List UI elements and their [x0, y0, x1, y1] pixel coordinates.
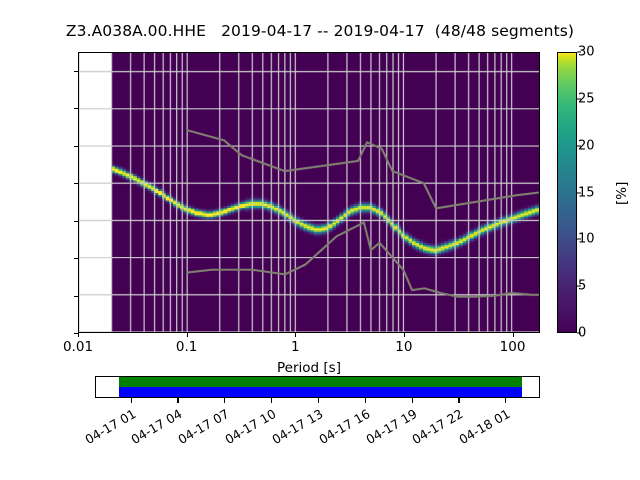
y-tick-mark: [74, 183, 78, 184]
y-tick-mark: [74, 258, 78, 259]
y-tick-mark: [74, 108, 78, 109]
timeline-tick-mark: [318, 398, 319, 403]
colorbar-tick-mark: [577, 98, 581, 99]
timeline-tick-mark: [177, 398, 178, 403]
y-tick-mark: [74, 221, 78, 222]
colorbar-tick-mark: [577, 192, 581, 193]
x-tick-label: 0.01: [63, 339, 93, 355]
timeline-tick-mark: [505, 398, 506, 403]
timeline-tick-mark: [412, 398, 413, 403]
colorbar-label: [%]: [614, 182, 630, 205]
x-tick-mark: [187, 333, 188, 337]
x-tick-label: 100: [500, 339, 526, 355]
timeline-axes[interactable]: [95, 376, 540, 398]
x-tick-label: 1: [291, 339, 300, 355]
ppsd-histogram-canvas: [79, 53, 539, 332]
colorbar-tick-mark: [577, 333, 581, 334]
ppsd-plot-axes: [78, 52, 540, 333]
colorbar-tick-mark: [577, 286, 581, 287]
y-tick-mark: [74, 296, 78, 297]
colorbar-tick-mark: [577, 52, 581, 53]
timeline-band-data-coverage: [119, 377, 522, 387]
timeline-band-psd-coverage: [119, 387, 522, 397]
x-tick-mark: [513, 333, 514, 337]
ppsd-figure: Z3.A038A.00.HHE 2019-04-17 -- 2019-04-17…: [0, 0, 640, 480]
x-tick-mark: [78, 333, 79, 337]
x-tick-mark: [404, 333, 405, 337]
x-tick-label: 10: [395, 339, 412, 355]
y-tick-mark: [74, 146, 78, 147]
colorbar-tick-mark: [577, 239, 581, 240]
timeline-tick-mark: [224, 398, 225, 403]
timeline-tick-mark: [271, 398, 272, 403]
colorbar-tick-mark: [577, 145, 581, 146]
y-tick-mark: [74, 71, 78, 72]
x-tick-label: 0.1: [176, 339, 197, 355]
timeline-tick-mark: [365, 398, 366, 403]
timeline-tick-mark: [131, 398, 132, 403]
colorbar: [557, 52, 577, 333]
x-axis-label: Period [s]: [78, 360, 540, 376]
x-tick-mark: [295, 333, 296, 337]
page-title: Z3.A038A.00.HHE 2019-04-17 -- 2019-04-17…: [0, 22, 640, 40]
timeline-tick-mark: [458, 398, 459, 403]
